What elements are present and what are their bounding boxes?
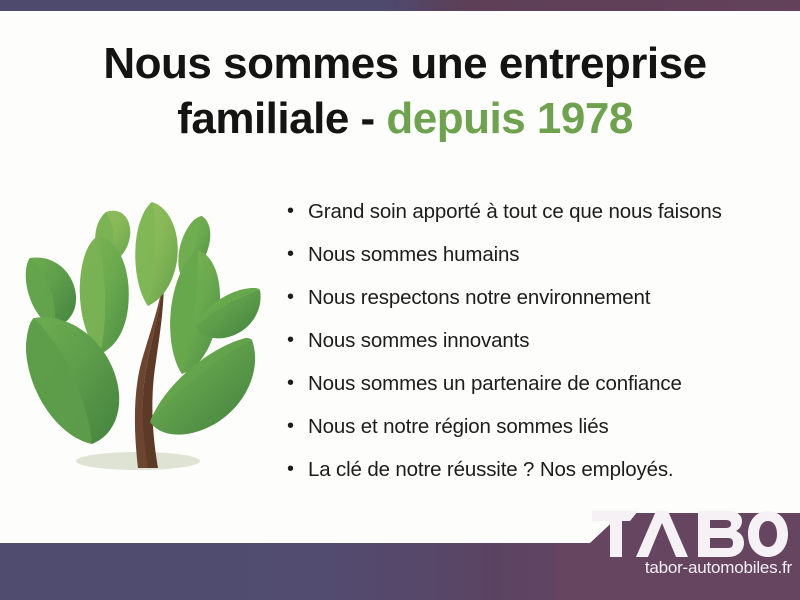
tabor-logo-wordmark[interactable] (592, 511, 792, 557)
list-item: Nous sommes un partenaire de confiance (284, 362, 784, 405)
tree-leaf-far-left (26, 257, 76, 328)
value-list: Grand soin apporté à tout ce que nous fa… (284, 190, 784, 491)
list-item: Nous et notre région sommes liés (284, 405, 784, 448)
tree-icon (20, 188, 272, 490)
list-item: Nous sommes humains (284, 233, 784, 276)
list-item: Grand soin apporté à tout ce que nous fa… (284, 190, 784, 233)
list-item: La clé de notre réussite ? Nos employés. (284, 448, 784, 491)
tree-trunk-shade (143, 277, 164, 468)
list-item: Nous sommes innovants (284, 319, 784, 362)
tree-leaf-top-center (135, 202, 177, 306)
page-title-line-2-plain: familiale - (177, 94, 386, 143)
page-title: Nous sommes une entreprise familiale - d… (60, 36, 750, 146)
slide-canvas: Nous sommes une entreprise familiale - d… (0, 0, 800, 600)
list-item: Nous respectons notre environnement (284, 276, 784, 319)
logo-tagline: tabor-automobiles.fr (592, 558, 792, 578)
page-title-accent: depuis 1978 (386, 94, 632, 143)
page-title-line-2: familiale - depuis 1978 (60, 91, 750, 146)
top-accent-band (0, 0, 800, 11)
page-title-line-1: Nous sommes une entreprise (60, 36, 750, 91)
